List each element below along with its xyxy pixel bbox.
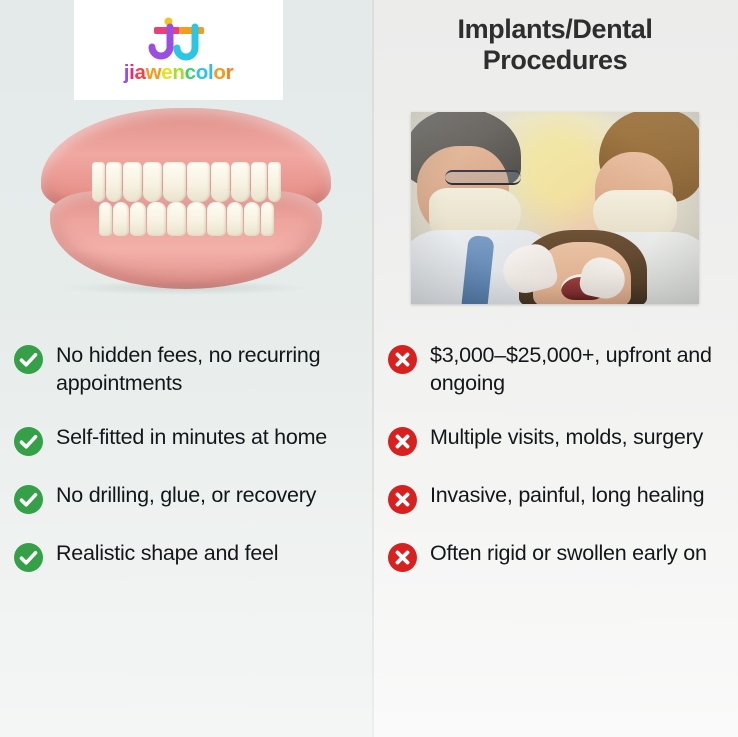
check-circle-icon: [14, 345, 43, 374]
list-item: Realistic shape and feel: [14, 540, 354, 572]
column-dentures: jiawencolor: [0, 0, 372, 737]
check-circle-icon: [14, 427, 43, 456]
list-item-label: No hidden fees, no recurring appointment…: [56, 342, 354, 398]
x-circle-icon: [388, 485, 417, 514]
list-item-label: Self-fitted in minutes at home: [56, 424, 327, 452]
brand-logo-panel: jiawencolor: [74, 0, 283, 100]
x-circle-icon: [388, 427, 417, 456]
drawbacks-list: $3,000–$25,000+, upfront and ongoing Mul…: [372, 312, 738, 572]
photo-vignette: [411, 112, 699, 304]
jj-monogram-icon: [146, 17, 212, 61]
left-header-zone: jiawencolor: [0, 0, 372, 104]
list-item-label: Often rigid or swollen early on: [430, 540, 707, 568]
denture-image: [0, 104, 372, 312]
list-item: Self-fitted in minutes at home: [14, 424, 354, 456]
list-item: $3,000–$25,000+, upfront and ongoing: [388, 342, 724, 398]
check-circle-icon: [14, 485, 43, 514]
list-item-label: Invasive, painful, long healing: [430, 482, 704, 510]
benefits-list: No hidden fees, no recurring appointment…: [0, 312, 372, 572]
clinic-image: [372, 104, 738, 312]
column-implants: Implants/Dental Procedures: [372, 0, 738, 737]
list-item: Multiple visits, molds, surgery: [388, 424, 724, 456]
list-item-label: Multiple visits, molds, surgery: [430, 424, 703, 452]
denture-illustration: [36, 106, 336, 291]
check-circle-icon: [14, 543, 43, 572]
dental-procedure-photo: [411, 112, 699, 304]
brand-wordmark: jiawencolor: [124, 63, 234, 84]
list-item: No hidden fees, no recurring appointment…: [14, 342, 354, 398]
list-item: Often rigid or swollen early on: [388, 540, 724, 572]
upper-teeth: [66, 162, 306, 202]
list-item-label: Realistic shape and feel: [56, 540, 278, 568]
denture-shadow: [61, 281, 311, 295]
list-item-label: No drilling, glue, or recovery: [56, 482, 316, 510]
lower-teeth: [74, 202, 298, 236]
list-item: No drilling, glue, or recovery: [14, 482, 354, 514]
comparison-infographic: jiawencolor: [0, 0, 738, 737]
x-circle-icon: [388, 345, 417, 374]
x-circle-icon: [388, 543, 417, 572]
list-item: Invasive, painful, long healing: [388, 482, 724, 514]
right-header-zone: Implants/Dental Procedures: [372, 0, 738, 104]
list-item-label: $3,000–$25,000+, upfront and ongoing: [430, 342, 724, 398]
column-divider: [372, 0, 374, 737]
column-title: Implants/Dental Procedures: [372, 0, 738, 77]
